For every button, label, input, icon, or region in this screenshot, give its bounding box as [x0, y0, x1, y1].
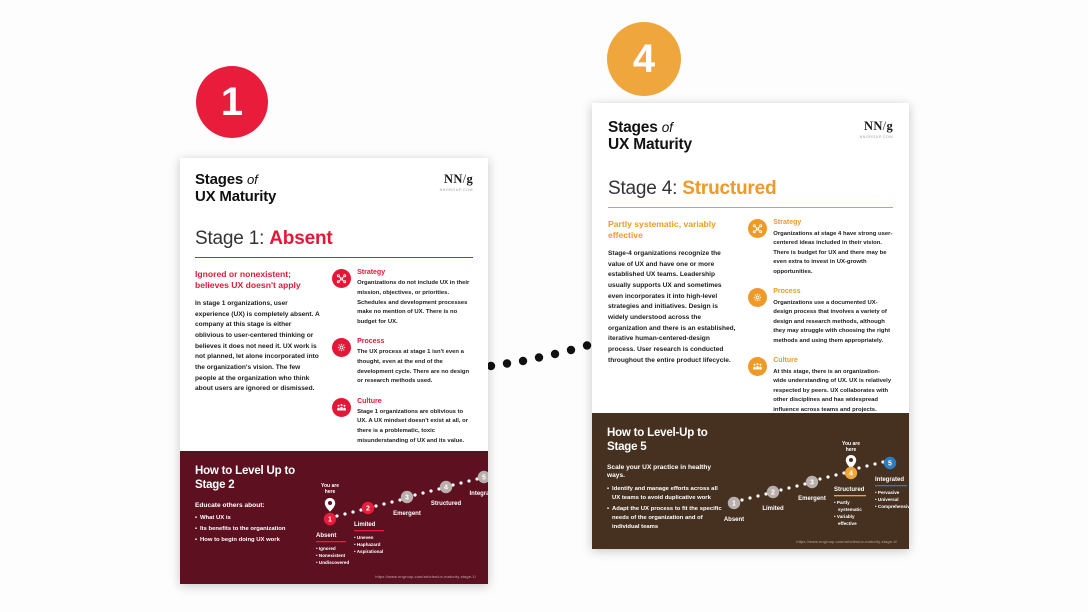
- nng-logo-domain: NNGROUP.COM: [860, 135, 893, 139]
- pillar-process-desc: The UX process at stage 1 isn't even a t…: [357, 348, 473, 386]
- pillar-culture-desc: At this stage, there is an organization-…: [773, 368, 893, 416]
- card-1-brand-title: Stages of UX Maturity: [195, 172, 276, 206]
- card-2-divider: [608, 207, 893, 209]
- logo-g: g: [886, 119, 893, 133]
- step-badge-1: 1: [196, 66, 268, 138]
- svg-text:• Uneven: • Uneven: [354, 535, 374, 540]
- pillar-strategy-text: Strategy Organizations at stage 4 have s…: [773, 219, 893, 277]
- pillar-culture-desc: Stage 1 organizations are oblivious to U…: [357, 408, 473, 446]
- svg-text:effective: effective: [838, 521, 857, 526]
- svg-text:3: 3: [405, 494, 409, 501]
- pillar-strategy-text: Strategy Organizations do not include UX…: [357, 269, 473, 327]
- logo-nn: NN: [864, 119, 883, 133]
- svg-text:2: 2: [366, 505, 370, 512]
- strategy-network-icon: [748, 219, 767, 238]
- pillar-process-title: Process: [773, 288, 893, 296]
- card-1-levelup-title: How to Level Up to Stage 2: [195, 465, 306, 493]
- svg-text:• Pervasive: • Pervasive: [875, 490, 900, 495]
- brand-word-of: of: [662, 120, 673, 135]
- pillar-culture: Culture Stage 1 organizations are oblivi…: [332, 398, 473, 446]
- nng-logo-domain: NNGROUP.COM: [440, 188, 473, 192]
- pillar-culture-text: Culture Stage 1 organizations are oblivi…: [357, 398, 473, 446]
- card-2-levelup-inner: How to Level-Up to Stage 5 Scale your UX…: [607, 427, 894, 532]
- card-1-levelup-bullets: What UX is Its benefits to the organizat…: [195, 514, 306, 545]
- pillar-process-text: Process The UX process at stage 1 isn't …: [357, 338, 473, 386]
- card-2-maturity-staircase: 1 Absent 2 Limited 3 Emergent You are he…: [722, 427, 894, 532]
- poster-scene: 1 4 Stages of UX Maturity: [0, 0, 1088, 612]
- svg-text:Structured: Structured: [431, 501, 462, 507]
- card-1-body: Stages of UX Maturity NN/g NNGROUP.COM S…: [180, 158, 488, 451]
- svg-text:• Universal: • Universal: [875, 497, 899, 502]
- card-2-header: Stages of UX Maturity NN/g NNGROUP.COM: [608, 119, 893, 154]
- culture-people-icon: [748, 357, 767, 376]
- svg-text:here: here: [325, 489, 336, 495]
- pillar-strategy-title: Strategy: [357, 269, 473, 277]
- card-1-stage-prefix: Stage 1:: [195, 228, 264, 249]
- levelup-bullet: Adapt the UX process to fit the specific…: [607, 505, 722, 532]
- svg-text:Integrated: Integrated: [470, 491, 488, 497]
- strategy-network-icon: [332, 269, 351, 288]
- poster-card-stage-1[interactable]: Stages of UX Maturity NN/g NNGROUP.COM S…: [180, 158, 488, 584]
- nng-logo: NN/g NNGROUP.COM: [860, 119, 893, 139]
- card-1-source-url[interactable]: https://www.nngroup.com/articles/ux-matu…: [375, 574, 476, 579]
- poster-card-stage-4[interactable]: Stages of UX Maturity NN/g NNGROUP.COM S…: [592, 103, 909, 549]
- card-2-stage-prefix: Stage 4:: [608, 178, 677, 199]
- card-1-paragraph: In stage 1 organizations, user experienc…: [195, 299, 320, 395]
- svg-text:Emergent: Emergent: [798, 496, 826, 502]
- step-badge-4-label: 4: [633, 39, 655, 79]
- card-1-stage-name: Absent: [269, 228, 332, 249]
- pillar-process: Process Organizations use a documented U…: [748, 288, 893, 346]
- card-2-levelup-left: How to Level-Up to Stage 5 Scale your UX…: [607, 427, 722, 532]
- step-badge-1-label: 1: [221, 82, 243, 122]
- card-2-levelup-title: How to Level-Up to Stage 5: [607, 427, 722, 455]
- levelup-bullet: Its benefits to the organization: [195, 525, 306, 534]
- card-1-divider: [195, 257, 473, 259]
- pillar-strategy-title: Strategy: [773, 219, 893, 227]
- pillar-process-desc: Organizations use a documented UX-design…: [773, 299, 893, 347]
- svg-text:4: 4: [444, 484, 448, 491]
- svg-text:4: 4: [849, 470, 853, 477]
- card-2-levelup-panel: How to Level-Up to Stage 5 Scale your UX…: [592, 413, 909, 549]
- levelup-bullet: How to begin doing UX work: [195, 536, 306, 545]
- card-2-source-url[interactable]: https://www.nngroup.com/articles/ux-matu…: [796, 539, 897, 544]
- svg-text:5: 5: [888, 460, 892, 467]
- card-1-header: Stages of UX Maturity NN/g NNGROUP.COM: [195, 172, 473, 206]
- process-gear-icon: [332, 338, 351, 357]
- card-1-stage-title: Stage 1: Absent: [195, 228, 473, 250]
- svg-text:Emergent: Emergent: [393, 511, 421, 517]
- svg-text:5: 5: [482, 474, 486, 481]
- step-badge-4: 4: [607, 22, 681, 96]
- svg-text:• Ignored: • Ignored: [316, 546, 336, 551]
- dotted-connector: [485, 330, 605, 372]
- card-2-lede: Partly systematic, variably effective: [608, 219, 736, 241]
- svg-text:• Variably: • Variably: [834, 514, 855, 519]
- pillar-culture-title: Culture: [357, 398, 473, 406]
- pillar-strategy-desc: Organizations at stage 4 have strong use…: [773, 230, 893, 278]
- brand-word-ux-maturity: UX Maturity: [608, 136, 692, 153]
- pillar-culture-title: Culture: [773, 357, 893, 365]
- card-2-levelup-bullets: Identify and manage efforts across all U…: [607, 485, 722, 531]
- card-2-paragraph: Stage-4 organizations recognize the valu…: [608, 249, 736, 366]
- pillar-strategy: Strategy Organizations do not include UX…: [332, 269, 473, 327]
- svg-text:1: 1: [732, 500, 736, 507]
- svg-text:Limited: Limited: [762, 506, 784, 512]
- brand-word-of: of: [247, 172, 258, 187]
- card-2-stage-name: Structured: [682, 178, 776, 199]
- pillar-process-text: Process Organizations use a documented U…: [773, 288, 893, 346]
- nng-logo: NN/g NNGROUP.COM: [440, 172, 473, 192]
- card-1-lede: Ignored or nonexistent; believes UX does…: [195, 269, 320, 291]
- card-2-stage-title: Stage 4: Structured: [608, 178, 893, 200]
- svg-text:Absent: Absent: [316, 533, 336, 539]
- svg-text:3: 3: [810, 479, 814, 486]
- card-2-brand-title: Stages of UX Maturity: [608, 119, 692, 154]
- svg-text:• Partly: • Partly: [834, 500, 850, 505]
- svg-text:• Comprehensive: • Comprehensive: [875, 504, 909, 509]
- svg-text:• Haphazard: • Haphazard: [354, 542, 381, 547]
- pillar-process: Process The UX process at stage 1 isn't …: [332, 338, 473, 386]
- pillar-strategy: Strategy Organizations at stage 4 have s…: [748, 219, 893, 277]
- process-gear-icon: [748, 288, 767, 307]
- svg-text:Absent: Absent: [724, 517, 744, 523]
- svg-text:• Undiscovered: • Undiscovered: [316, 560, 349, 565]
- pillar-process-title: Process: [357, 338, 473, 346]
- nng-logo-mark: NN/g: [860, 119, 893, 134]
- svg-text:Integrated: Integrated: [875, 477, 904, 483]
- levelup-bullet: What UX is: [195, 514, 306, 523]
- card-1-maturity-staircase: You are here 1 Absent • Ignored • Nonexi…: [306, 465, 473, 545]
- brand-word-ux-maturity: UX Maturity: [195, 188, 276, 205]
- pillar-culture-text: Culture At this stage, there is an organ…: [773, 357, 893, 415]
- svg-text:systematic: systematic: [838, 507, 862, 512]
- pillar-strategy-desc: Organizations do not include UX in their…: [357, 279, 473, 327]
- levelup-bullet: Identify and manage efforts across all U…: [607, 485, 722, 503]
- svg-text:1: 1: [328, 516, 332, 523]
- card-1-levelup-subtitle: Educate others about:: [195, 502, 306, 511]
- card-1-levelup-left: How to Level Up to Stage 2 Educate other…: [195, 465, 306, 545]
- pillar-culture: Culture At this stage, there is an organ…: [748, 357, 893, 415]
- logo-g: g: [466, 172, 473, 186]
- svg-text:• Aspirational: • Aspirational: [354, 549, 383, 554]
- svg-text:here: here: [846, 447, 857, 453]
- svg-text:Structured: Structured: [834, 487, 865, 493]
- card-1-levelup-panel: How to Level Up to Stage 2 Educate other…: [180, 451, 488, 584]
- card-1-levelup-inner: How to Level Up to Stage 2 Educate other…: [195, 465, 473, 545]
- brand-word-stages: Stages: [608, 119, 658, 136]
- nng-logo-mark: NN/g: [440, 172, 473, 187]
- logo-nn: NN: [444, 172, 463, 186]
- card-2-body: Stages of UX Maturity NN/g NNGROUP.COM S…: [592, 103, 909, 413]
- brand-word-stages: Stages: [195, 171, 243, 188]
- svg-text:• Nonexistent: • Nonexistent: [316, 553, 346, 558]
- culture-people-icon: [332, 398, 351, 417]
- card-2-levelup-subtitle: Scale your UX practice in healthy ways.: [607, 464, 722, 482]
- svg-text:Limited: Limited: [354, 522, 376, 528]
- svg-text:2: 2: [771, 489, 775, 496]
